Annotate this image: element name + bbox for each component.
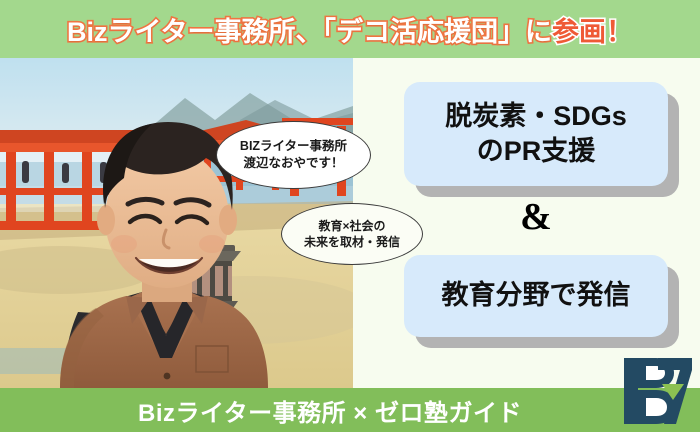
page-title: Bizライター事務所、「デコ活応援団」に参画！ — [0, 0, 700, 58]
service-card-decarbonization: 脱炭素・SDGs のPR支援 — [404, 82, 668, 186]
service-card-education: 教育分野で発信 — [404, 255, 668, 337]
banner-root: Bizライター事務所、「デコ活応援団」に参画！ — [0, 0, 700, 432]
footer-title: Bizライター事務所 × ゼロ塾ガイド — [0, 388, 700, 432]
brand-logo — [622, 356, 694, 426]
speech-bubble-mission-line-2: 未来を取材・発信 — [304, 234, 400, 250]
speech-bubble-intro: BIZライター事務所 渡辺なおやです！ — [216, 121, 371, 189]
speech-bubble-intro-line-2: 渡辺なおやです！ — [243, 155, 343, 172]
page-title-main: Bizライター事務所、「デコ活応援団」に — [67, 10, 552, 49]
ampersand-connector: & — [404, 192, 668, 242]
service-card-decarbonization-line-1: 脱炭素・SDGs — [445, 99, 627, 134]
page-title-accent: 参画！ — [552, 10, 633, 49]
speech-bubble-mission-line-1: 教育×社会の — [318, 218, 385, 234]
b7-logo-icon — [622, 356, 694, 426]
speech-bubble-mission: 教育×社会の 未来を取材・発信 — [281, 203, 423, 265]
speech-bubble-intro-line-1: BIZライター事務所 — [240, 138, 347, 155]
service-card-education-line-1: 教育分野で発信 — [442, 278, 631, 313]
service-card-decarbonization-line-2: のPR支援 — [477, 134, 596, 169]
